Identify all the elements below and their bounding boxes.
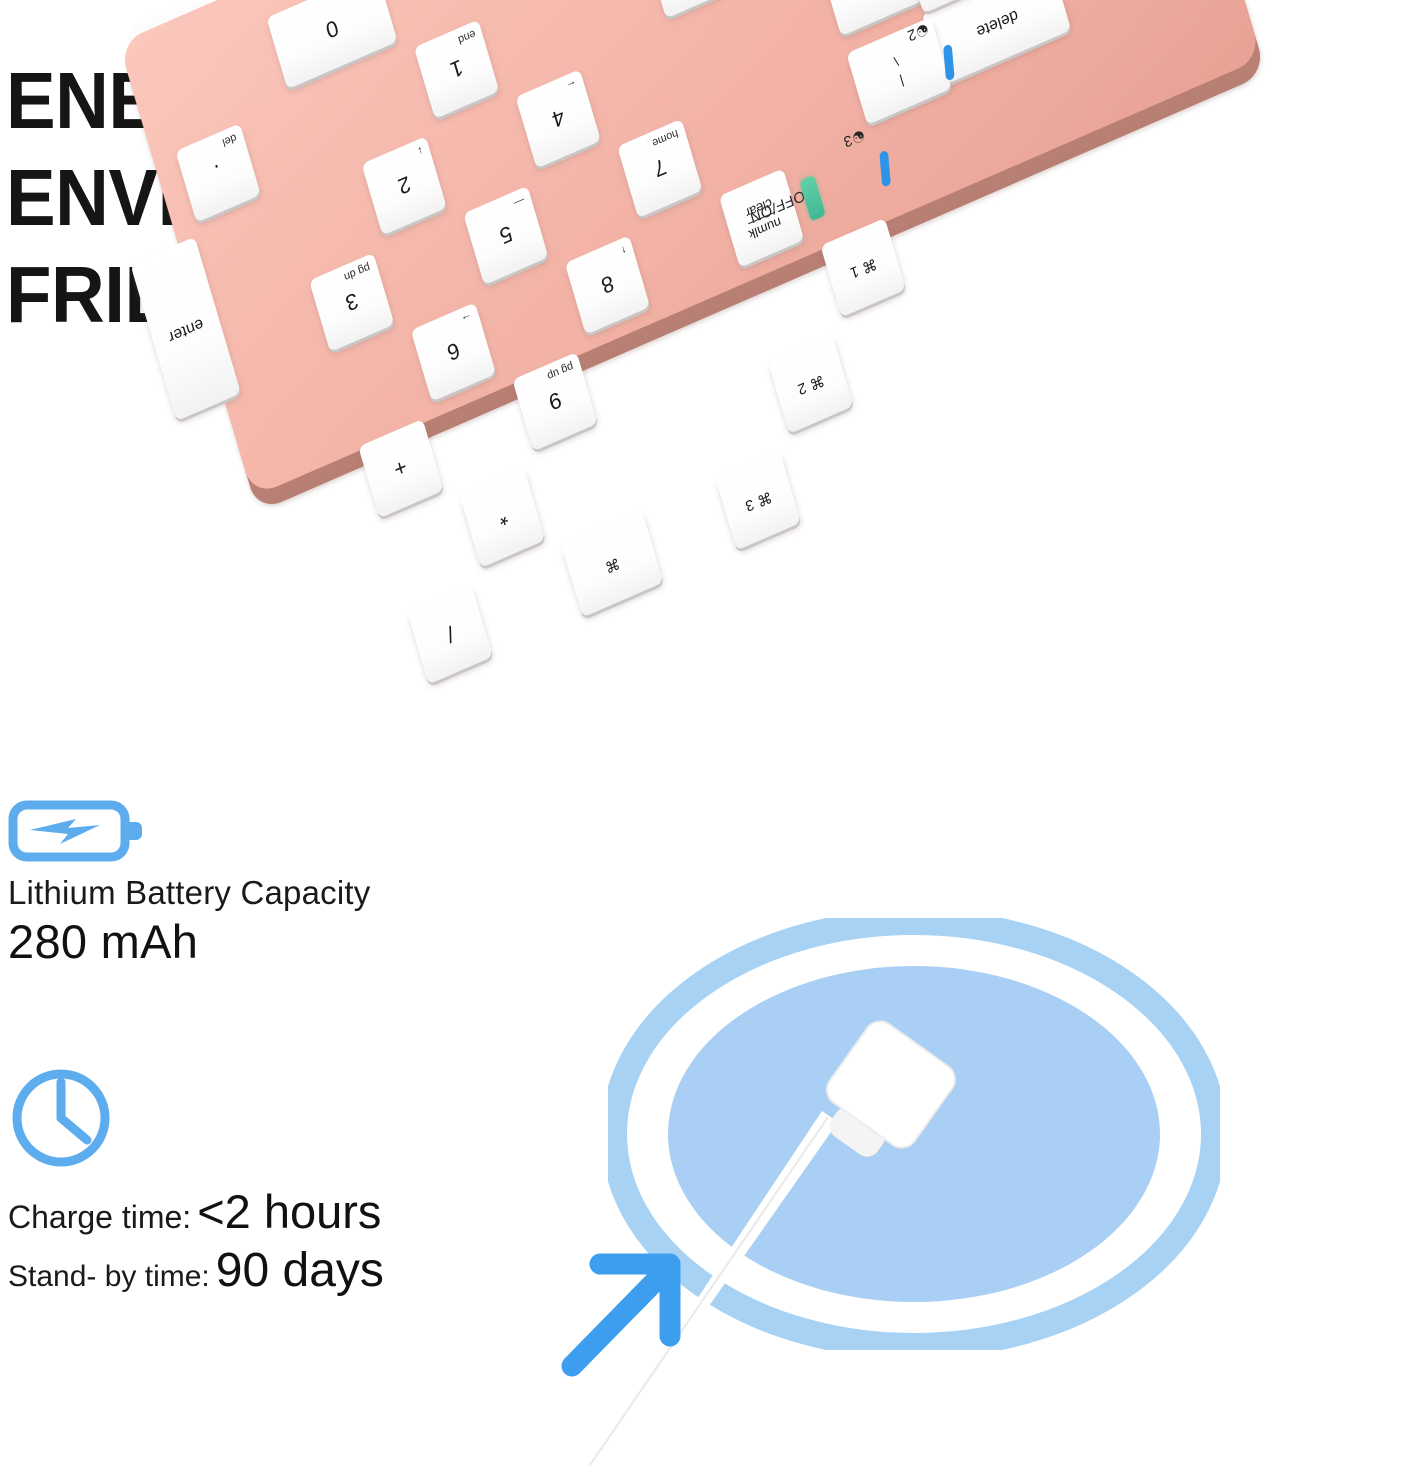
clock-icon	[8, 1066, 130, 1170]
charging-halo-graphic	[608, 918, 1220, 1350]
battery-capacity-value: 280 mAh	[8, 914, 370, 969]
key-label: delete	[973, 5, 1019, 39]
standby-time-line: Stand- by time: 90 days	[8, 1243, 384, 1298]
key-label: +	[392, 455, 411, 483]
key-label: 0	[323, 16, 341, 43]
key-label: ⌘	[603, 554, 621, 575]
silk-label-bt2: ☯2	[905, 19, 931, 45]
product-marketing-image: ENERGY SAVING AND ENVIRONMENTALLY FRIEND…	[0, 0, 1412, 1469]
standby-time-label: Stand- by time:	[8, 1260, 210, 1294]
battery-charging-icon	[8, 800, 142, 862]
battery-capacity-label: Lithium Battery Capacity	[8, 874, 370, 912]
key-label: *	[495, 505, 510, 531]
feature-battery-capacity: Lithium Battery Capacity 280 mAh	[8, 800, 370, 969]
key-grid: 0ins.delenter1end2↓3pg dn4←5—6→7home8↑9p…	[119, 0, 1128, 43]
standby-time-value: 90 days	[216, 1243, 384, 1298]
keyboard-key[interactable]: 9pg up	[512, 352, 597, 451]
charge-time-value: <2 hours	[197, 1184, 381, 1239]
keyboard-key[interactable]: ⌘ 2	[768, 335, 853, 434]
key-label: /	[444, 622, 456, 647]
key-label: 9	[546, 388, 564, 415]
bt2-led-indicator	[943, 44, 955, 81]
feature-charge-standby-time: Charge time: <2 hours Stand- by time: 90…	[8, 1066, 384, 1298]
direction-arrow-icon	[556, 1248, 696, 1378]
key-label: ⌘ 2	[796, 371, 826, 397]
keyboard-key[interactable]: +	[358, 419, 443, 518]
page-headline: ENERGY SAVING AND ENVIRONMENTALLY FRIEND…	[6, 52, 936, 343]
charge-time-line: Charge time: <2 hours	[8, 1184, 384, 1239]
keyboard-key[interactable]: enter	[645, 0, 831, 19]
keyboard-key[interactable]: /	[407, 585, 492, 684]
keyboard-key[interactable]: backspace	[820, 0, 1015, 36]
keyboard-key[interactable]: *	[460, 468, 545, 567]
keyboard-key[interactable]: }]	[902, 0, 991, 13]
key-secondary-label: pg up	[546, 360, 575, 383]
keyboard-key[interactable]: ⌘ 3	[716, 451, 801, 550]
keyboard-key[interactable]: ⌘	[562, 511, 664, 618]
keyboard-key[interactable]: delete	[922, 0, 1072, 86]
key-secondary-label: end	[456, 27, 476, 46]
charge-time-label: Charge time:	[8, 1199, 191, 1236]
key-label: ⌘ 3	[743, 488, 773, 514]
